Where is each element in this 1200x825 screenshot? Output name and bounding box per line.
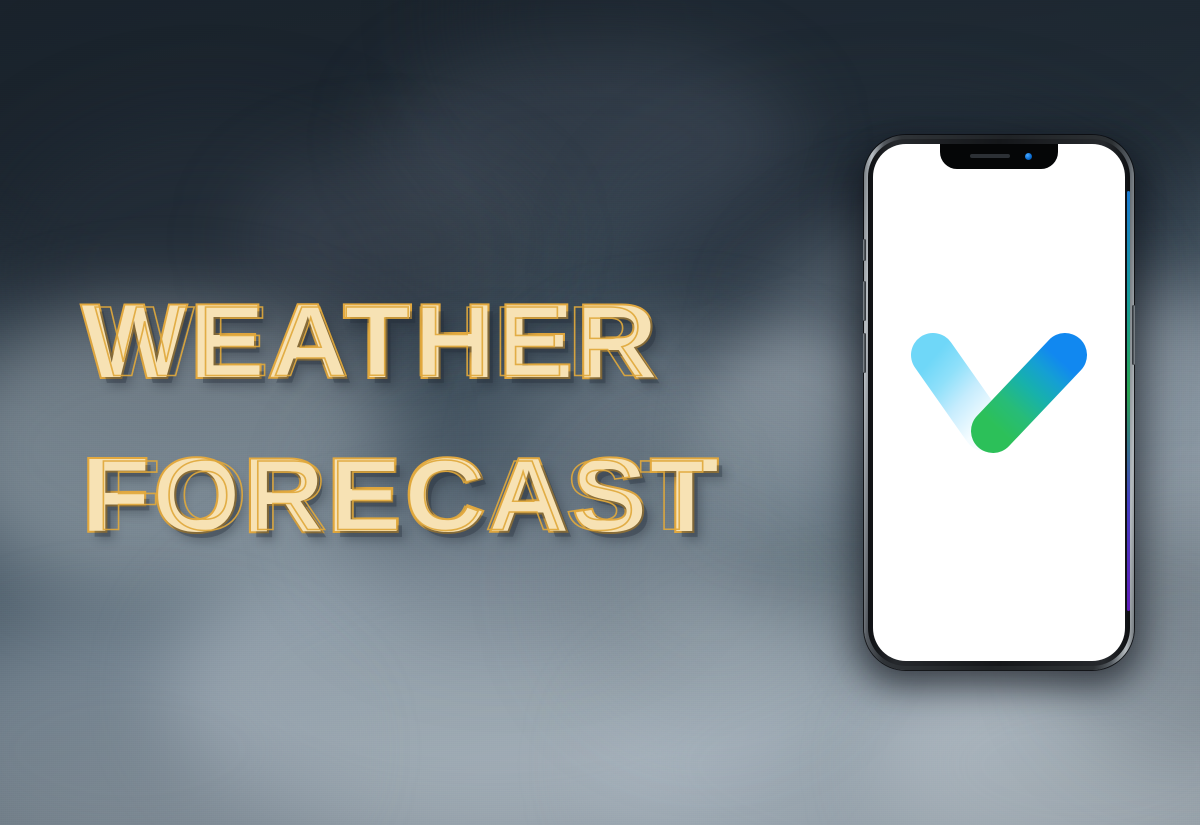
volume-down-button[interactable]	[863, 333, 866, 373]
phone-mockup	[864, 135, 1134, 670]
power-button[interactable]	[1132, 305, 1135, 365]
front-camera-icon	[1025, 153, 1032, 160]
screen-edge-glow	[1127, 191, 1130, 611]
mute-switch-button[interactable]	[863, 239, 866, 261]
headline-line-1: WEATHER WEATHER	[82, 268, 888, 416]
headline-line-2: FORECAST FORECAST	[82, 422, 888, 570]
phone-notch	[940, 144, 1058, 169]
headline-line-1-text: WEATHER	[82, 284, 661, 400]
banner-stage: WEATHER WEATHER FORECAST FORECAST	[0, 0, 1200, 825]
app-logo-m	[911, 333, 1087, 473]
phone-screen[interactable]	[873, 144, 1125, 661]
phone-frame	[864, 135, 1134, 670]
headline-line-2-text: FORECAST	[82, 438, 722, 554]
volume-up-button[interactable]	[863, 281, 866, 321]
headline-block: WEATHER WEATHER FORECAST FORECAST	[82, 268, 842, 570]
earpiece-speaker-icon	[970, 154, 1010, 158]
